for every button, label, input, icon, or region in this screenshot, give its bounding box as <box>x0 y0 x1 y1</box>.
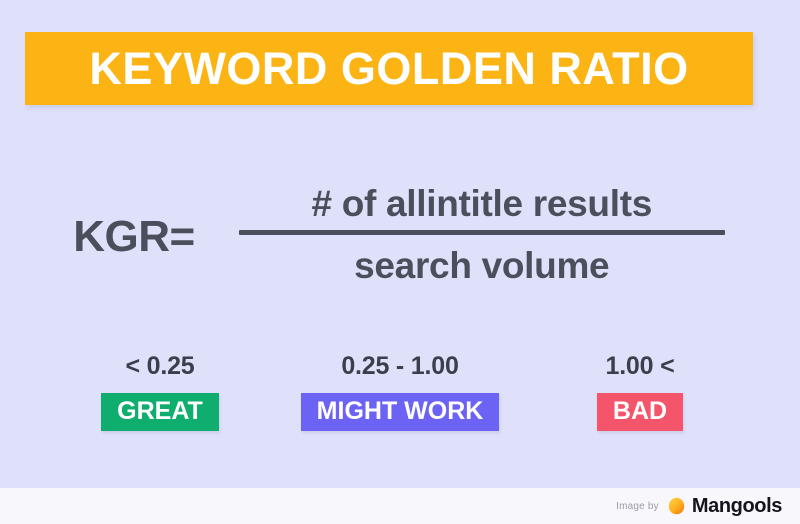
footer-bar: Image by Mangools <box>0 488 800 524</box>
formula-denominator: search volume <box>354 243 609 289</box>
scale-column-great: < 0.25 GREAT <box>40 352 280 431</box>
great-badge: GREAT <box>101 393 219 431</box>
scale-value-might-work: 0.25 - 1.00 <box>341 352 458 381</box>
kgr-scale-row: < 0.25 GREAT 0.25 - 1.00 MIGHT WORK 1.00… <box>40 352 760 431</box>
fraction-divider-line <box>239 230 725 235</box>
title-banner: KEYWORD GOLDEN RATIO <box>25 32 753 105</box>
scale-value-bad: 1.00 < <box>605 352 674 381</box>
formula-label: KGR= <box>73 212 194 262</box>
formula-numerator: # of allintitle results <box>311 181 652 227</box>
brand-name: Mangools <box>692 495 782 518</box>
infographic-canvas: KEYWORD GOLDEN RATIO KGR= # of allintitl… <box>0 0 800 524</box>
scale-column-might-work: 0.25 - 1.00 MIGHT WORK <box>280 352 520 431</box>
page-title: KEYWORD GOLDEN RATIO <box>89 46 688 91</box>
scale-value-great: < 0.25 <box>125 352 194 381</box>
formula-fraction: # of allintitle results search volume <box>237 181 727 290</box>
kgr-formula: KGR= # of allintitle results search volu… <box>0 160 800 310</box>
mango-icon <box>668 497 685 515</box>
bad-badge: BAD <box>597 393 683 431</box>
scale-column-bad: 1.00 < BAD <box>520 352 760 431</box>
image-credit-label: Image by <box>616 501 659 512</box>
might-work-badge: MIGHT WORK <box>301 393 500 431</box>
